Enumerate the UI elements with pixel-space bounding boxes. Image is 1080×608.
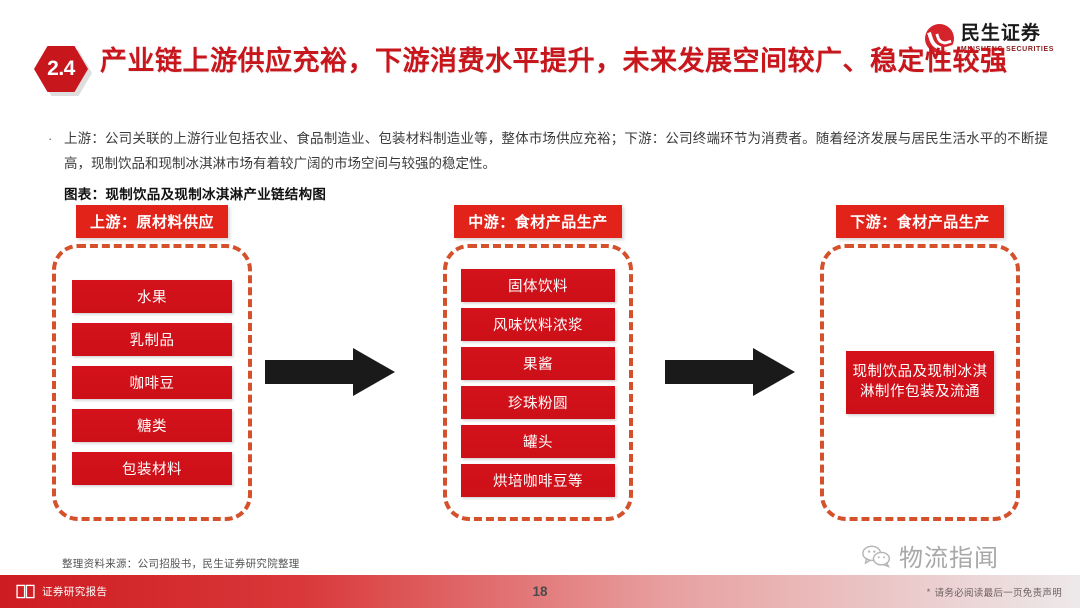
disclaimer-star-icon: * [927,587,931,597]
page-number: 18 [0,584,1080,599]
arrow-upstream-to-midstream-icon [265,348,395,396]
item-box: 包装材料 [72,452,232,485]
footer-bar: 证券研究报告 18 * 请务必阅读最后一页免责声明 [0,575,1080,608]
section-number-badge: 2.4 [34,45,88,93]
item-box: 现制饮品及现制冰淇淋制作包装及流通 [846,351,994,414]
dashed-container-midstream: 固体饮料 风味饮料浓浆 果酱 珍珠粉圆 罐头 烘培咖啡豆等 [443,244,633,521]
brand-name-cn: 民生证券 [961,24,1054,43]
column-header-wrap-downstream: 下游：食材产品生产 [820,205,1020,238]
footer-disclaimer: * 请务必阅读最后一页免责声明 [927,585,1062,599]
section-number: 2.4 [47,57,75,81]
supply-chain-diagram: 上游：原材料供应 水果 乳制品 咖啡豆 糖类 包装材料 中游：食材产品生产 固体… [0,205,1080,535]
diagram-column-midstream: 中游：食材产品生产 固体饮料 风味饮料浓浆 果酱 珍珠粉圆 罐头 烘培咖啡豆等 [443,205,633,521]
body-block: · 上游：公司关联的上游行业包括农业、食品制造业、包装材料制造业等，整体市场供应… [48,126,1048,176]
item-box: 糖类 [72,409,232,442]
source-note: 整理资料来源：公司招股书，民生证券研究院整理 [62,556,300,571]
wechat-icon [862,544,892,568]
disclaimer-text: 请务必阅读最后一页免责声明 [935,585,1062,599]
item-box: 风味饮料浓浆 [461,308,615,341]
bullet-icon: · [48,126,64,151]
item-box: 固体饮料 [461,269,615,302]
watermark: 物流指闻 [862,538,999,573]
watermark-text: 物流指闻 [899,538,999,573]
item-box: 烘培咖啡豆等 [461,464,615,497]
slide-page: 民生证券 MINSHENG SECURITIES 2.4 产业链上游供应充裕，下… [0,0,1080,608]
item-box: 乳制品 [72,323,232,356]
item-box: 果酱 [461,347,615,380]
column-header-wrap-midstream: 中游：食材产品生产 [443,205,633,238]
column-header-midstream: 中游：食材产品生产 [454,205,622,238]
diagram-column-downstream: 下游：食材产品生产 现制饮品及现制冰淇淋制作包装及流通 [820,205,1020,521]
column-header-wrap-upstream: 上游：原材料供应 [52,205,252,238]
bullet-line: · 上游：公司关联的上游行业包括农业、食品制造业、包装材料制造业等，整体市场供应… [48,126,1048,176]
body-paragraph: 上游：公司关联的上游行业包括农业、食品制造业、包装材料制造业等，整体市场供应充裕… [64,126,1048,176]
dashed-container-upstream: 水果 乳制品 咖啡豆 糖类 包装材料 [52,244,252,521]
arrow-midstream-to-downstream-icon [665,348,795,396]
item-box: 水果 [72,280,232,313]
column-header-downstream: 下游：食材产品生产 [836,205,1004,238]
chart-caption: 图表：现制饮品及现制冰淇淋产业链结构图 [64,183,326,203]
item-box: 咖啡豆 [72,366,232,399]
dashed-container-downstream: 现制饮品及现制冰淇淋制作包装及流通 [820,244,1020,521]
page-title-row: 2.4 产业链上游供应充裕，下游消费水平提升，未来发展空间较广、稳定性较强 [34,44,1044,93]
column-header-upstream: 上游：原材料供应 [76,205,228,238]
page-title: 产业链上游供应充裕，下游消费水平提升，未来发展空间较广、稳定性较强 [100,44,1008,79]
item-box: 珍珠粉圆 [461,386,615,419]
item-box: 罐头 [461,425,615,458]
diagram-column-upstream: 上游：原材料供应 水果 乳制品 咖啡豆 糖类 包装材料 [52,205,252,521]
